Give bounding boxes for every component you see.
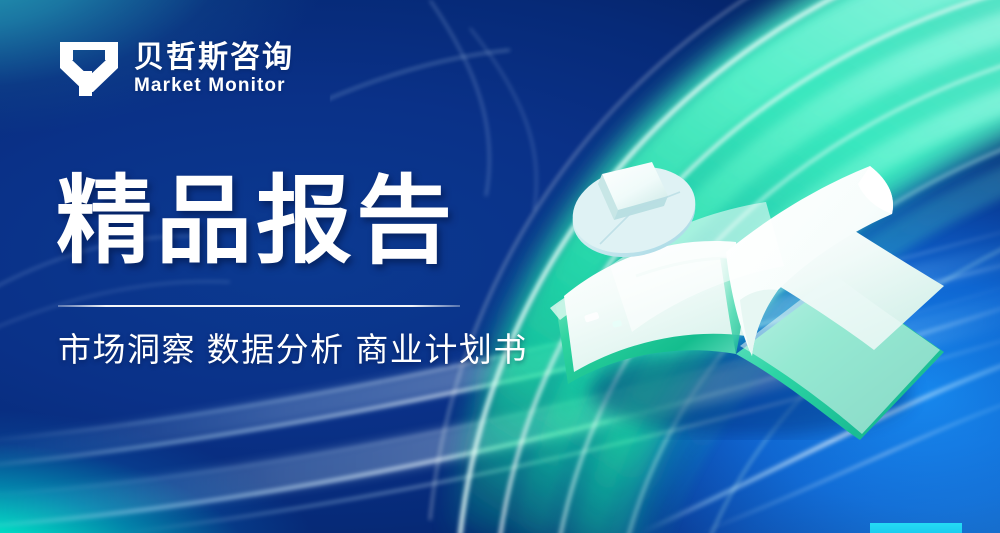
banner-content: 贝哲斯咨询 Market Monitor 精品报告 市场洞察 数据分析 商业计划… — [0, 0, 1000, 533]
cyan-accent-block — [870, 523, 962, 533]
brand-logo[interactable]: 贝哲斯咨询 Market Monitor — [58, 38, 294, 100]
title-divider — [58, 305, 460, 307]
market-monitor-m-mark — [58, 38, 120, 100]
subtitle: 市场洞察 数据分析 商业计划书 — [58, 328, 528, 373]
report-banner: 贝哲斯咨询 Market Monitor 精品报告 市场洞察 数据分析 商业计划… — [0, 0, 1000, 533]
brand-text: 贝哲斯咨询 Market Monitor — [134, 42, 294, 97]
brand-name-en: Market Monitor — [134, 76, 294, 96]
page-title: 精品报告 — [56, 168, 456, 276]
brand-name-cn: 贝哲斯咨询 — [134, 42, 294, 74]
